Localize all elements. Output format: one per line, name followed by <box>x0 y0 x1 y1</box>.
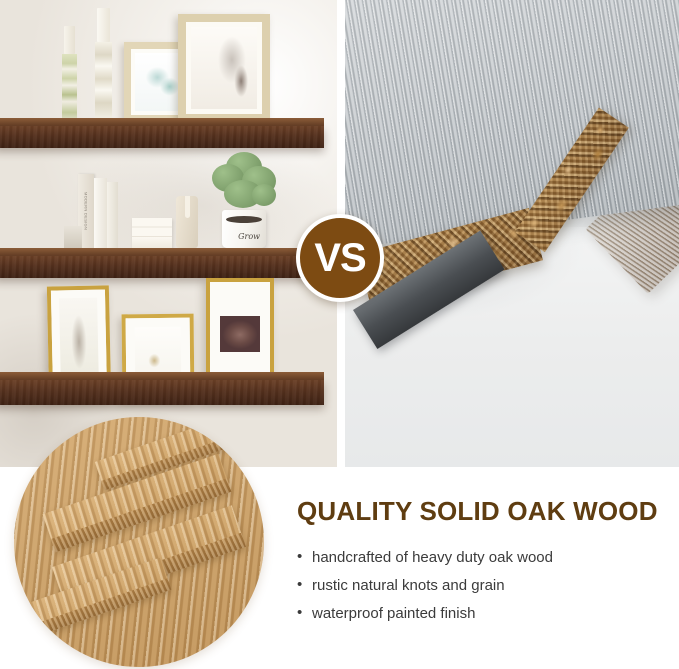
book-white-small <box>107 182 118 248</box>
book-white-medium <box>94 178 107 248</box>
book-end-block <box>64 226 82 248</box>
infographic-stage: Grow MODERN DESIGN <box>0 0 679 669</box>
candle-holder-green <box>62 26 77 122</box>
shelf-front-face <box>0 256 324 278</box>
white-planter-pot: Grow <box>222 204 266 248</box>
pot-script-label: Grow <box>238 232 260 241</box>
list-item: waterproof painted finish <box>297 605 679 622</box>
versus-badge-label: VS <box>314 238 365 278</box>
wood-sculpture-decor <box>176 196 198 248</box>
pot-soil <box>226 216 262 223</box>
picture-frame-portrait <box>178 14 270 122</box>
candle-stem <box>95 42 112 122</box>
right-panel-particle-board <box>345 0 679 467</box>
candle-wax <box>64 26 75 54</box>
candle-holder-cream <box>95 8 112 122</box>
frame-photo <box>220 316 260 352</box>
oak-planks-circle-inset <box>14 417 264 667</box>
versus-badge: VS <box>296 214 384 302</box>
frame-artwork <box>191 27 257 109</box>
left-panel-oak-shelves: Grow MODERN DESIGN <box>0 0 337 467</box>
leaf <box>252 184 276 206</box>
pot-body: Grow <box>222 210 266 248</box>
floating-shelf-middle <box>0 248 324 284</box>
feature-section: QUALITY SOLID OAK WOOD handcrafted of he… <box>0 467 679 669</box>
shelf-front-face <box>0 126 324 148</box>
sculpture-notch <box>185 196 190 218</box>
feature-text-column: QUALITY SOLID OAK WOOD handcrafted of he… <box>297 467 679 633</box>
feature-headline: QUALITY SOLID OAK WOOD <box>297 496 679 527</box>
feature-bullet-list: handcrafted of heavy duty oak wood rusti… <box>297 549 679 622</box>
shelf-front-face <box>0 380 324 405</box>
candle-wax <box>97 8 110 42</box>
comparison-row: Grow MODERN DESIGN <box>0 0 679 467</box>
list-item: handcrafted of heavy duty oak wood <box>297 549 679 566</box>
list-item: rustic natural knots and grain <box>297 577 679 594</box>
floating-shelf-top <box>0 118 324 154</box>
stacked-books <box>132 218 172 248</box>
floating-shelf-bottom <box>0 372 324 412</box>
candle-stem <box>62 54 77 122</box>
plant-foliage <box>208 150 280 212</box>
book-spine-text: MODERN DESIGN <box>84 192 89 230</box>
